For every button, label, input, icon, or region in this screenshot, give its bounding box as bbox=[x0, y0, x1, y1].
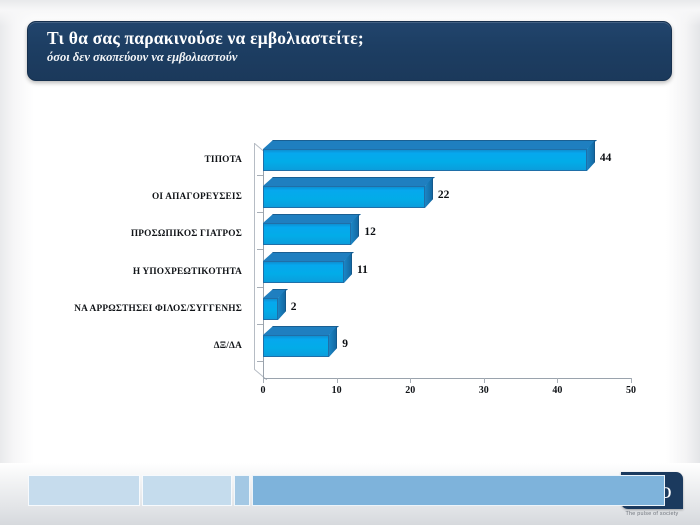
bar-value-label: 22 bbox=[438, 189, 450, 201]
x-axis-tick bbox=[631, 378, 632, 383]
bar-value-label: 2 bbox=[291, 301, 297, 313]
category-axis-labels: ΤΙΠΟΤΑΟΙ ΑΠΑΓΟΡΕΥΣΕΙΣΠΡΟΣΩΠΙΚΟΣ ΓΙΑΤΡΟΣΗ… bbox=[20, 140, 242, 390]
bar-top-face bbox=[263, 140, 597, 149]
footer-color-block bbox=[252, 475, 665, 506]
page-title: Τι θα σας παρακινούσε να εμβολιαστείτε; bbox=[47, 28, 364, 49]
bar-value-label: 44 bbox=[600, 152, 612, 164]
bar-front-face bbox=[263, 298, 278, 320]
bar[interactable] bbox=[263, 335, 329, 357]
slide-header-banner: Τι θα σας παρακινούσε να εμβολιαστείτε; … bbox=[27, 21, 672, 81]
category-label: ΝΑ ΑΡΡΩΣΤΗΣΕΙ ΦΙΛΟΣ/ΣΥΓΓΕΝΗΣ bbox=[74, 304, 242, 314]
footer-color-block bbox=[234, 475, 250, 506]
bar-front-face bbox=[263, 149, 587, 171]
category-label: Η ΥΠΟΧΡΕΩΤΙΚΟΤΗΤΑ bbox=[133, 267, 242, 277]
x-axis-tick-label: 50 bbox=[626, 385, 636, 396]
bar-top-face bbox=[263, 326, 339, 335]
slide-canvas: Τι θα σας παρακινούσε να εμβολιαστείτε; … bbox=[0, 0, 700, 525]
x-axis-tick bbox=[410, 378, 411, 383]
bar-top-face bbox=[263, 252, 354, 261]
y-axis-tick bbox=[257, 287, 263, 288]
bar[interactable] bbox=[263, 186, 425, 208]
bar[interactable] bbox=[263, 223, 351, 245]
x-axis-tick bbox=[337, 378, 338, 383]
bar[interactable] bbox=[263, 261, 344, 283]
y-axis-tick bbox=[257, 249, 263, 250]
category-label: ΟΙ ΑΠΑΓΟΡΕΥΣΕΙΣ bbox=[152, 192, 242, 202]
y-axis-tick bbox=[257, 361, 263, 362]
bar-top-face bbox=[263, 214, 361, 223]
x-axis-tick bbox=[263, 378, 264, 383]
x-axis-tick-label: 0 bbox=[261, 385, 266, 396]
x-axis-tick-label: 30 bbox=[479, 385, 489, 396]
x-axis-tick bbox=[484, 378, 485, 383]
bar-front-face bbox=[263, 261, 344, 283]
x-axis-tick bbox=[557, 378, 558, 383]
page-subtitle: όσοι δεν σκοπεύουν να εμβολιαστούν bbox=[47, 50, 237, 65]
y-axis-tick bbox=[257, 324, 263, 325]
y-axis-tick bbox=[257, 175, 263, 176]
x-axis-tick-label: 40 bbox=[552, 385, 562, 396]
bar-top-face bbox=[263, 177, 435, 186]
bar-value-label: 11 bbox=[357, 264, 368, 276]
bar[interactable] bbox=[263, 298, 278, 320]
alco-logo-tagline: The pulse of society bbox=[621, 511, 683, 517]
bar-front-face bbox=[263, 223, 351, 245]
category-label: ΔΞ/ΔΑ bbox=[214, 341, 242, 351]
y-axis-tick bbox=[257, 212, 263, 213]
bar-front-face bbox=[263, 186, 425, 208]
plot-area: 442212112901020304050 bbox=[246, 140, 636, 390]
slide-footer: alco The pulse of society bbox=[0, 463, 700, 525]
bar-value-label: 9 bbox=[342, 338, 348, 350]
bar-front-face bbox=[263, 335, 329, 357]
bar[interactable] bbox=[263, 149, 587, 171]
bar-chart: ΤΙΠΟΤΑΟΙ ΑΠΑΓΟΡΕΥΣΕΙΣΠΡΟΣΩΠΙΚΟΣ ΓΙΑΤΡΟΣΗ… bbox=[20, 140, 680, 430]
x-axis-tick-label: 10 bbox=[332, 385, 342, 396]
bar-value-label: 12 bbox=[364, 226, 376, 238]
category-label: ΤΙΠΟΤΑ bbox=[205, 155, 243, 165]
x-axis-tick-label: 20 bbox=[405, 385, 415, 396]
category-label: ΠΡΟΣΩΠΙΚΟΣ ΓΙΑΤΡΟΣ bbox=[131, 229, 242, 239]
footer-color-block bbox=[142, 475, 232, 506]
footer-color-block bbox=[28, 475, 140, 506]
x-axis-line bbox=[263, 378, 631, 379]
axis-back-wall bbox=[254, 143, 255, 369]
